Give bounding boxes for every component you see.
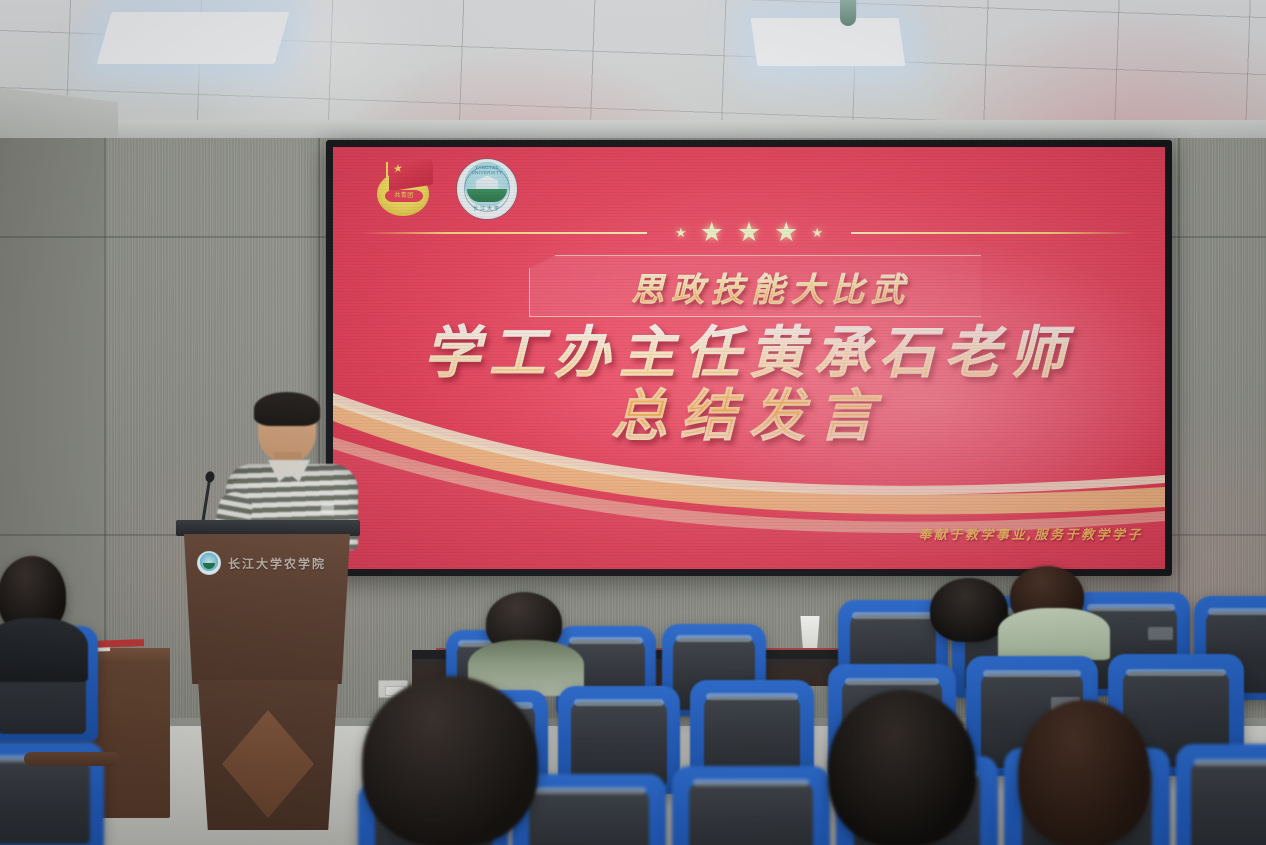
podium-university-logo-icon bbox=[197, 551, 221, 575]
audience-head-foreground bbox=[1018, 700, 1150, 845]
podium-nameplate-text: 长江大学农学院 bbox=[228, 555, 326, 572]
podium-nameplate: 长江大学农学院 bbox=[192, 548, 342, 578]
sprinkler-icon bbox=[840, 0, 856, 26]
audience-head-foreground bbox=[362, 676, 538, 845]
lecture-hall-photo: 共青团 YANGTZE UNIVERSITY 长江大学 ★ ★ ★ ★ ★ 思政… bbox=[0, 0, 1266, 845]
shirt-logo bbox=[321, 504, 334, 513]
presentation-screen[interactable]: 共青团 YANGTZE UNIVERSITY 长江大学 ★ ★ ★ ★ ★ 思政… bbox=[333, 147, 1165, 569]
audience-head bbox=[930, 578, 1008, 642]
podium-desktop bbox=[176, 520, 360, 536]
seat-armrest bbox=[24, 752, 120, 766]
ceiling bbox=[0, 0, 1266, 150]
seat[interactable] bbox=[1176, 744, 1266, 845]
podium: 长江大学农学院 bbox=[176, 520, 360, 830]
audience-head-foreground bbox=[828, 690, 976, 845]
ceiling-light-panel-right bbox=[751, 18, 906, 66]
audience-shoulders bbox=[998, 608, 1110, 660]
audience-shoulders bbox=[0, 618, 88, 682]
screen-scanlines bbox=[333, 147, 1165, 569]
seat[interactable] bbox=[672, 766, 830, 845]
ceiling-light-panel-left bbox=[97, 12, 290, 64]
speaker-hair bbox=[254, 392, 320, 426]
